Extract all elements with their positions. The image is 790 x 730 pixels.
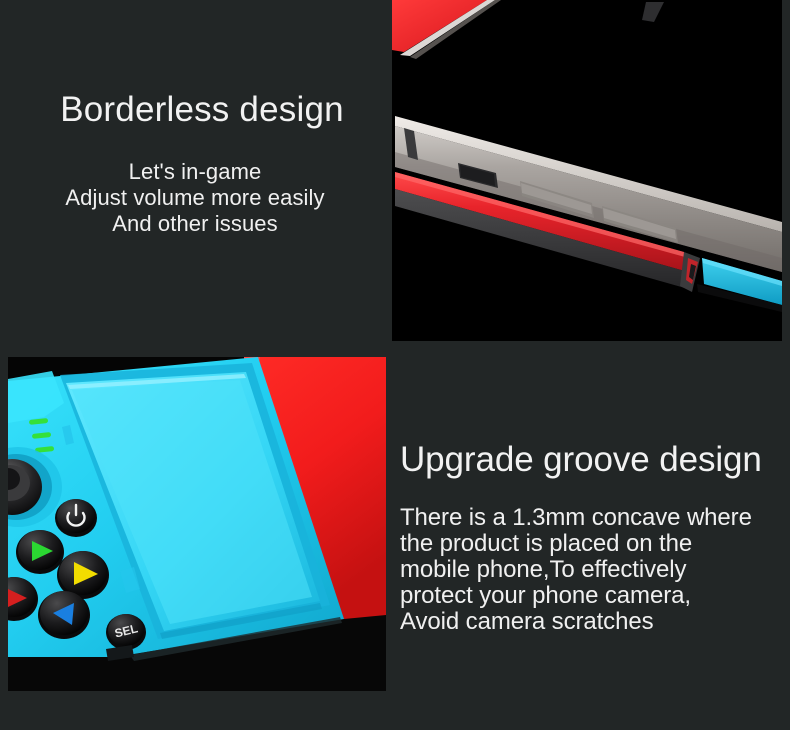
- borderless-design-text-block: Borderless design Let's in-game Adjust v…: [0, 92, 390, 237]
- power-button[interactable]: [55, 499, 97, 537]
- groove-body-line-2: the product is placed on the: [400, 531, 790, 557]
- controller-groove-illustration: SEL: [8, 357, 386, 691]
- groove-design-body: There is a 1.3mm concave where the produ…: [400, 505, 790, 635]
- groove-design-text-block: Upgrade groove design There is a 1.3mm c…: [400, 442, 790, 635]
- groove-body-line-1: There is a 1.3mm concave where: [400, 505, 790, 531]
- phone-edge-illustration: [392, 0, 782, 341]
- arrow-blue-button[interactable]: [38, 591, 90, 639]
- borderless-body-line-2: Adjust volume more easily: [0, 185, 390, 211]
- product-feature-page: Borderless design Let's in-game Adjust v…: [0, 0, 790, 730]
- borderless-body-line-1: Let's in-game: [0, 159, 390, 185]
- borderless-design-body: Let's in-game Adjust volume more easily …: [0, 159, 390, 237]
- groove-design-heading: Upgrade groove design: [400, 442, 790, 479]
- borderless-design-heading: Borderless design: [14, 92, 390, 129]
- groove-body-line-4: protect your phone camera,: [400, 583, 790, 609]
- controller-groove-photo: SEL: [8, 357, 386, 691]
- arrow-green-button[interactable]: [16, 530, 64, 574]
- groove-body-line-3: mobile phone,To effectively: [400, 557, 790, 583]
- groove-body-line-5: Avoid camera scratches: [400, 609, 790, 635]
- select-button[interactable]: SEL: [106, 614, 146, 650]
- phone-edge-photo: [392, 0, 782, 341]
- borderless-body-line-3: And other issues: [0, 211, 390, 237]
